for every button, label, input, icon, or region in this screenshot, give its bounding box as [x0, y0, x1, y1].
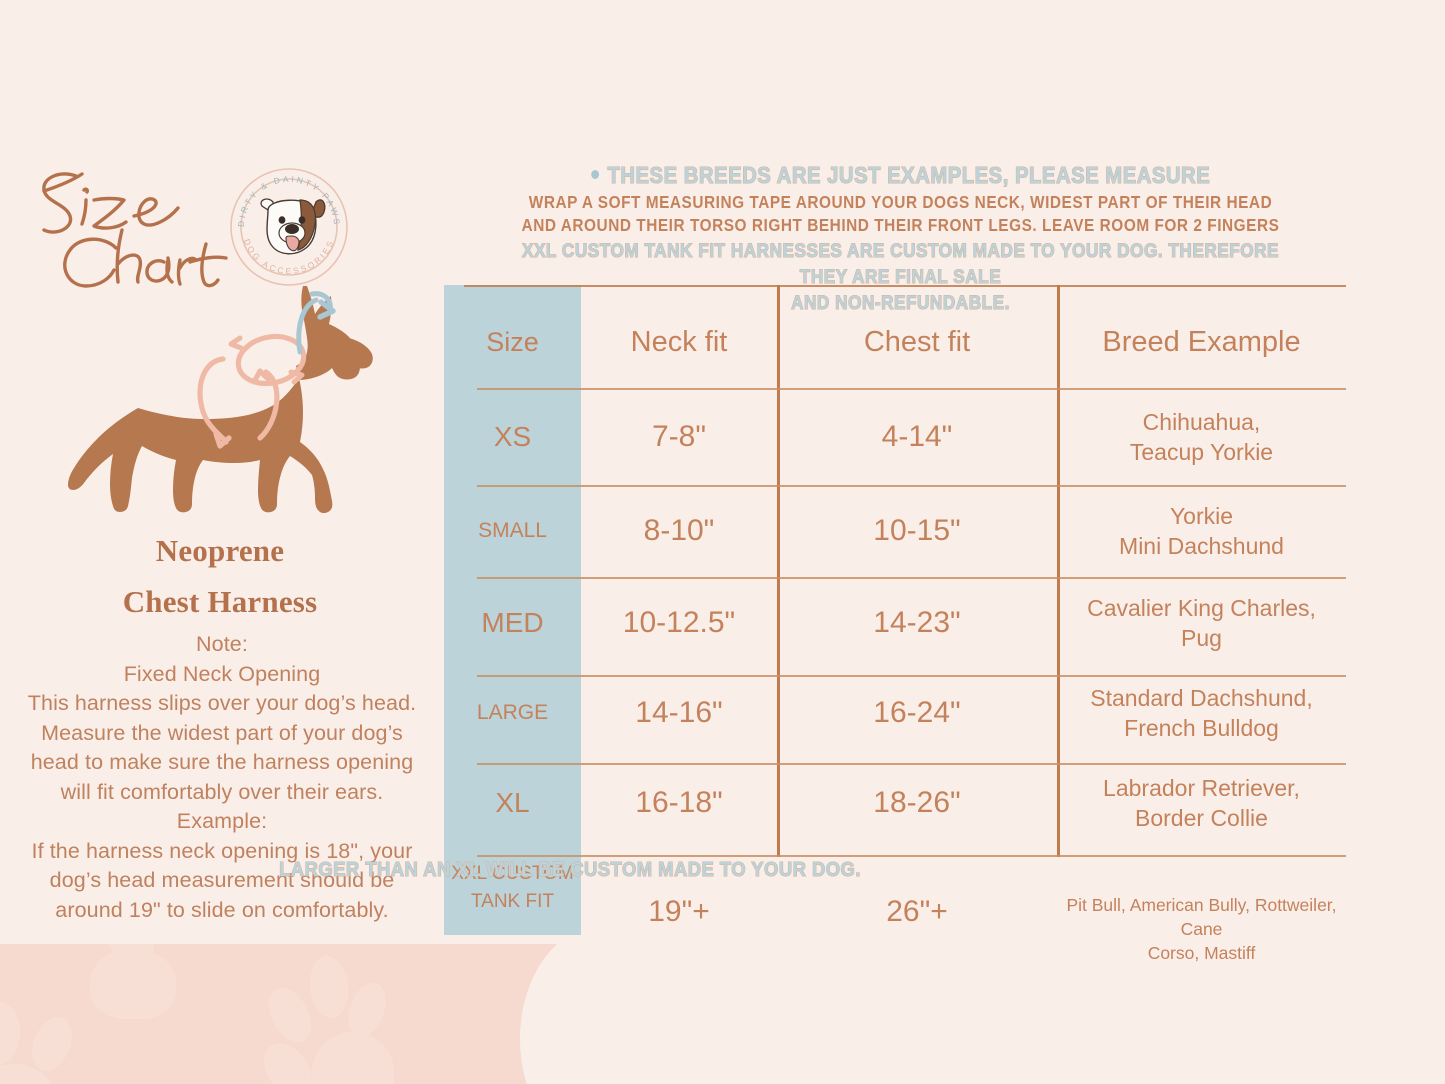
- note-measure-line2: AND AROUND THEIR TORSO RIGHT BEHIND THEI…: [502, 214, 1298, 237]
- product-title-line1: Neoprene: [0, 525, 440, 576]
- cell-chest: 4-14": [777, 420, 1057, 454]
- column-divider: [1057, 285, 1060, 857]
- script-title: [30, 160, 240, 290]
- brand-logo: DIRTY & DAINTY PAWS DOG ACCESSORIES: [228, 166, 350, 288]
- header-neck: Neck fit: [581, 326, 777, 359]
- note-breeds-examples: THESE BREEDS ARE JUST EXAMPLES, PLEASE M…: [502, 160, 1298, 191]
- cell-neck: 14-16": [581, 696, 777, 730]
- column-divider: [777, 285, 780, 857]
- cell-breed: Standard Dachshund, French Bulldog: [1057, 683, 1346, 743]
- row-divider: [477, 763, 1346, 765]
- row-divider: [477, 577, 1346, 579]
- cell-neck-xxl: 19"+: [581, 895, 777, 929]
- table-row: MED 10-12.5" 14-23" Cavalier King Charle…: [444, 593, 1346, 653]
- left-panel: DIRTY & DAINTY PAWS DOG ACCESSORIES: [0, 0, 440, 1084]
- cell-breed: Cavalier King Charles, Pug: [1057, 593, 1346, 653]
- cell-neck: 16-18": [581, 786, 777, 820]
- row-divider: [477, 855, 1346, 857]
- size-table: Size Neck fit Chest fit Breed Example XS…: [444, 285, 1346, 935]
- product-title-line2: Chest Harness: [0, 576, 440, 627]
- cell-chest: 16-24": [777, 696, 1057, 730]
- dog-measurement-illustration: [48, 272, 398, 522]
- note-measure-line1: WRAP A SOFT MEASURING TAPE AROUND YOUR D…: [502, 191, 1298, 214]
- cell-size: XS: [444, 421, 581, 453]
- note-final-sale-line1: XXL CUSTOM TANK FIT HARNESSES ARE CUSTOM…: [502, 238, 1298, 290]
- bulldog-face-icon: [261, 199, 325, 254]
- cell-breed: Chihuahua, Teacup Yorkie: [1057, 407, 1346, 467]
- row-divider: [477, 485, 1346, 487]
- custom-made-banner: LARGER THAN AN XL WILL BE CUSTOM MADE TO…: [192, 858, 948, 882]
- cell-neck: 7-8": [581, 420, 777, 454]
- size-chart-page: DIRTY & DAINTY PAWS DOG ACCESSORIES: [0, 0, 1445, 1084]
- cell-neck: 10-12.5": [581, 606, 777, 640]
- table-row: SMALL 8-10" 10-15" Yorkie Mini Dachshund: [444, 501, 1346, 561]
- cell-size: XL: [444, 787, 581, 819]
- cell-breed: Labrador Retriever, Border Collie: [1057, 773, 1346, 833]
- header-size: Size: [444, 327, 581, 358]
- header-chest: Chest fit: [777, 326, 1057, 359]
- cell-size: SMALL: [444, 519, 581, 543]
- cell-breed-xxl: Pit Bull, American Bully, Rottweiler, Ca…: [1057, 893, 1346, 965]
- row-divider: [477, 675, 1346, 677]
- row-divider: [464, 285, 1346, 287]
- table-row: XS 7-8" 4-14" Chihuahua, Teacup Yorkie: [444, 407, 1346, 467]
- cell-breed: Yorkie Mini Dachshund: [1057, 501, 1346, 561]
- cell-size: MED: [444, 607, 581, 639]
- bullet-dot-icon: [591, 170, 599, 179]
- cell-chest: 18-26": [777, 786, 1057, 820]
- cell-neck: 8-10": [581, 514, 777, 548]
- cell-chest-xxl: 26"+: [777, 895, 1057, 929]
- table-header-row: Size Neck fit Chest fit Breed Example: [444, 317, 1346, 367]
- table-row: LARGE 14-16" 16-24" Standard Dachshund, …: [444, 683, 1346, 743]
- table-row: XL 16-18" 18-26" Labrador Retriever, Bor…: [444, 773, 1346, 833]
- row-divider: [477, 388, 1346, 390]
- product-title: Neoprene Chest Harness: [0, 525, 440, 627]
- header-breed: Breed Example: [1057, 326, 1346, 359]
- cell-chest: 10-15": [777, 514, 1057, 548]
- cell-chest: 14-23": [777, 606, 1057, 640]
- cell-size: LARGE: [444, 701, 581, 725]
- german-shepherd-silhouette: [68, 286, 373, 513]
